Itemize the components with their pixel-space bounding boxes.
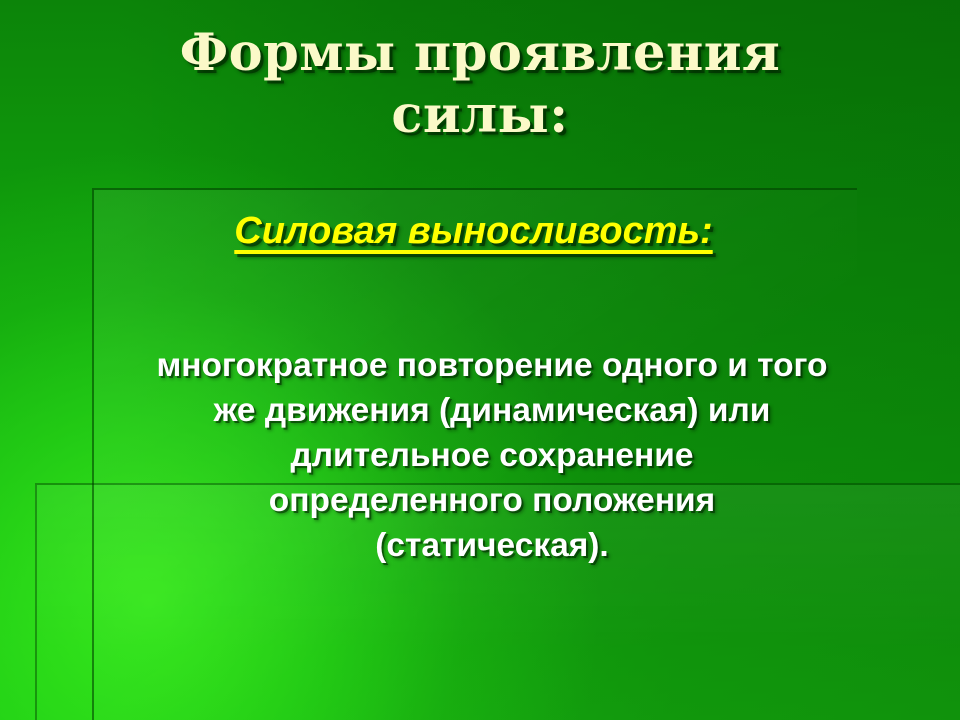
body-line: же движения (динамическая) или xyxy=(92,389,892,434)
body-line: (статическая). xyxy=(92,524,892,569)
presentation-slide: Формы проявления силы: Силовая выносливо… xyxy=(0,0,960,720)
body-line: определенного положения xyxy=(92,479,892,524)
body-line: многократное повторение одного и того xyxy=(92,344,892,389)
body-line: длительное сохранение xyxy=(92,434,892,479)
slide-body-text: многократное повторение одного и того же… xyxy=(92,344,892,568)
slide-title: Формы проявления силы: xyxy=(0,22,960,146)
slide-subtitle: Силовая выносливость: xyxy=(92,210,855,254)
